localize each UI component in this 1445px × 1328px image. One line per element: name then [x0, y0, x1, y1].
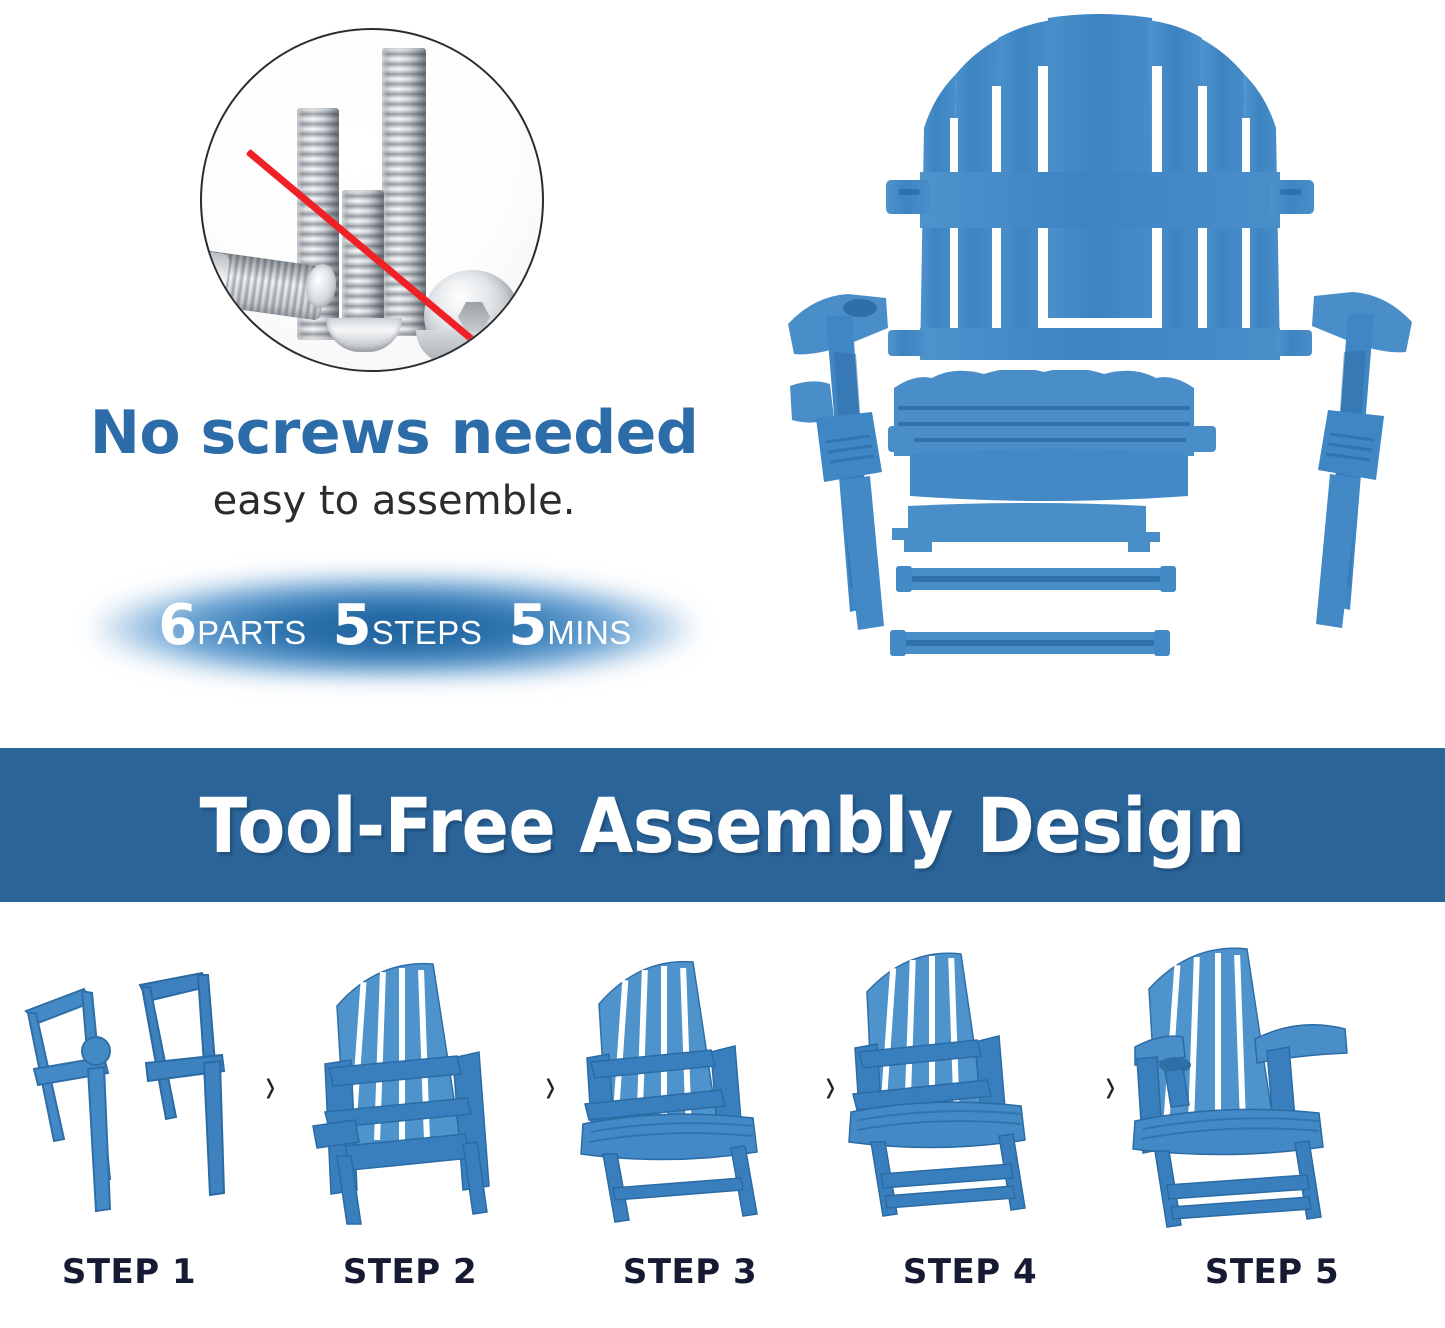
step-1-illustration: [0, 936, 258, 1236]
stats-badge-text: 6 PARTS 5 STEPS 5 MINS: [70, 576, 720, 676]
part-seat: [888, 370, 1228, 510]
step-label-1: STEP 1: [0, 1252, 258, 1292]
steps-illustration-row: ›: [0, 936, 1445, 1236]
part-cross-bar-upper: [896, 564, 1176, 594]
stat-mins: 5 MINS: [508, 598, 631, 654]
part-backrest: [880, 8, 1320, 368]
backrest-attached-chair-illustration: [285, 946, 535, 1226]
step-4-illustration: [842, 936, 1098, 1236]
exploded-chair-parts-diagram: [760, 0, 1445, 740]
step-labels-row: STEP 1 STEP 2 STEP 3 STEP 4 STEP 5: [0, 1252, 1445, 1292]
stat-parts-label: PARTS: [197, 616, 306, 649]
step-3-illustration: [562, 936, 818, 1236]
part-cross-bar-lower: [890, 628, 1170, 658]
screws-photo-circle: [200, 28, 544, 372]
step-label-4: STEP 4: [842, 1252, 1098, 1292]
chevron-right-icon: ›: [545, 1060, 554, 1111]
step-separator-4: ›: [1098, 936, 1122, 1236]
stat-steps: 5 STEPS: [333, 598, 483, 654]
step-label-3: STEP 3: [562, 1252, 818, 1292]
label-spacer-1: [258, 1252, 282, 1292]
step-5-illustration: [1122, 936, 1422, 1236]
banner-title: Tool-Free Assembly Design: [200, 781, 1245, 870]
stats-badge: 6 PARTS 5 STEPS 5 MINS: [70, 552, 720, 702]
stat-mins-number: 5: [508, 598, 547, 654]
stat-parts-number: 6: [158, 598, 197, 654]
section-banner: Tool-Free Assembly Design: [0, 748, 1445, 902]
seat-added-chair-illustration: [565, 946, 815, 1226]
headline: No screws needed: [84, 398, 704, 468]
stat-steps-label: STEPS: [372, 616, 483, 649]
step-separator-1: ›: [258, 936, 282, 1236]
part-right-side-frame: [1288, 288, 1418, 638]
chevron-right-icon: ›: [1105, 1060, 1114, 1111]
completed-chair-illustration: [1127, 941, 1417, 1231]
step-separator-2: ›: [538, 936, 562, 1236]
label-spacer-3: [818, 1252, 842, 1292]
chevron-right-icon: ›: [265, 1060, 274, 1111]
top-section: No screws needed easy to assemble. 6 PAR…: [0, 0, 1445, 748]
part-support-rail: [886, 500, 1186, 560]
stat-steps-number: 5: [333, 598, 372, 654]
infographic-page: No screws needed easy to assemble. 6 PAR…: [0, 0, 1445, 1328]
subheadline: easy to assemble.: [84, 478, 704, 524]
label-spacer-2: [538, 1252, 562, 1292]
step-label-2: STEP 2: [282, 1252, 538, 1292]
chevron-right-icon: ›: [825, 1060, 834, 1111]
step-label-5: STEP 5: [1122, 1252, 1422, 1292]
bolt-lying-head-icon: [200, 250, 230, 320]
step-separator-3: ›: [818, 936, 842, 1236]
assembly-steps-section: ›: [0, 902, 1445, 1328]
cross-bars-added-chair-illustration: [845, 946, 1095, 1226]
step-2-illustration: [282, 936, 538, 1236]
two-side-frames-illustration: [4, 951, 254, 1221]
stat-parts: 6 PARTS: [158, 598, 306, 654]
bolt-head-round-icon: [326, 318, 402, 352]
stat-mins-label: MINS: [547, 616, 632, 649]
label-spacer-4: [1098, 1252, 1122, 1292]
